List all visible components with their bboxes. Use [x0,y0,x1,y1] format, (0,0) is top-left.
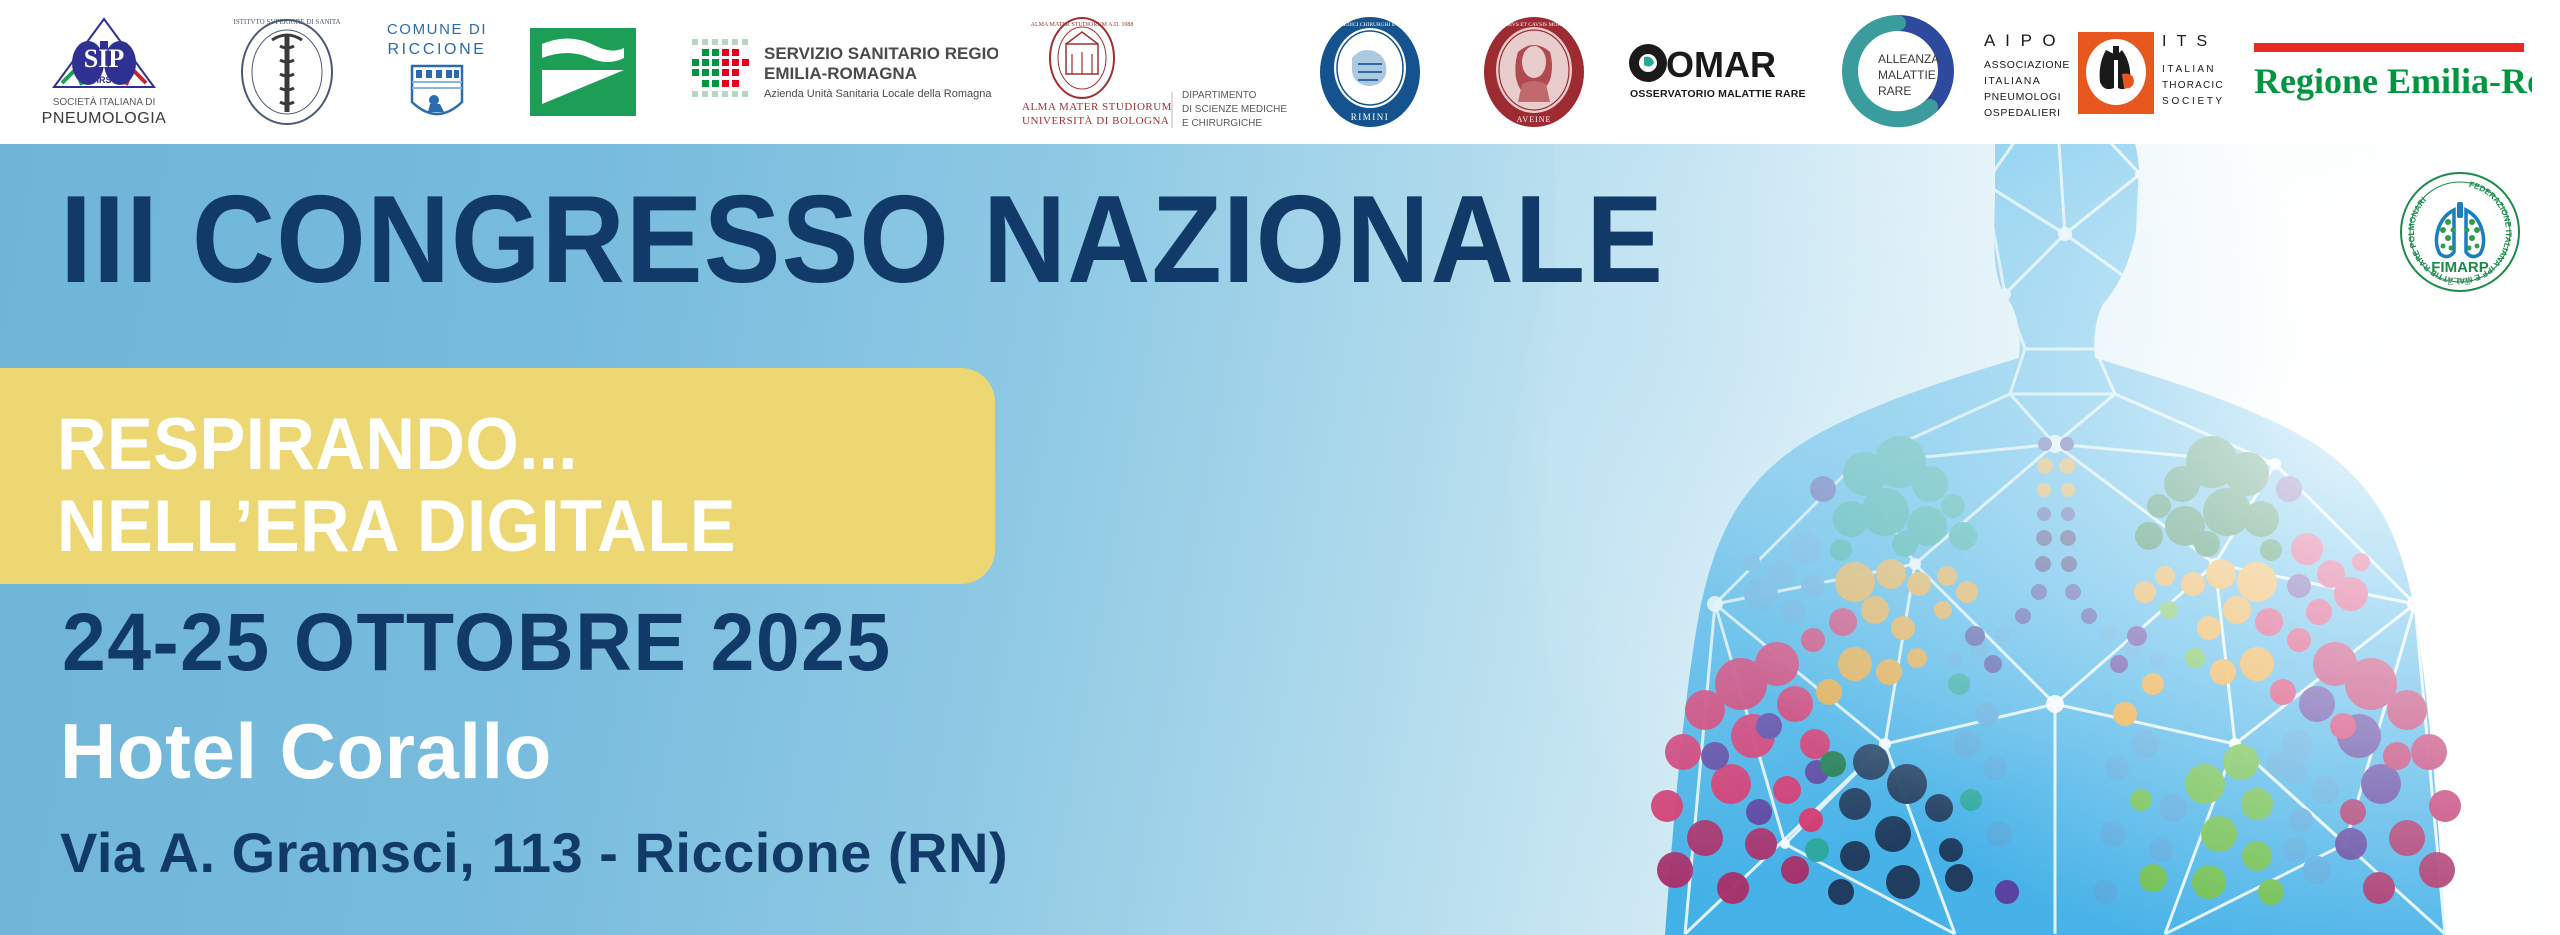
regione-emilia-romagna-icon: Regione Emilia-Romagna [2252,37,2532,107]
sponsor-logo-ssr-ausl-romagna[interactable]: SERVIZIO SANITARIO REGIONALE EMILIA-ROMA… [688,27,998,117]
sponsor-logo-sip-irs[interactable]: SIP IRS SOCIETÀ ITALIANA DI PNEUMOLOGIA [36,12,172,132]
theme-line-1: RESPIRANDO... [57,408,578,481]
unibo-line-2: UNIVERSITÀ DI BOLOGNA [1022,115,1169,127]
sip-tagline-2: PNEUMOLOGIA [42,110,167,127]
sponsor-logo-alleanza-malattie-rare[interactable]: ALLEANZA MALATTIE RARE [1838,15,1960,129]
iss-ring-text: ISTITVTO SVPERIORE DI SANITA [233,18,340,26]
sponsor-logo-iss[interactable]: ISTITVTO SVPERIORE DI SANITA [228,16,346,128]
aipo-acronym: A I P O [1984,31,2059,50]
ordine-medici-rimini-icon: ORDINE DEI MEDICI CHIRURGHI E ODONTOIATR… [1310,14,1430,130]
unibo-line-1: ALMA MATER STUDIORUM [1022,101,1172,113]
unibo-dept-2: DI SCIENZE MEDICHE [1182,104,1287,115]
comune-line-1: COMUNE DI [387,21,487,38]
aipo-its-icon: A I P O ASSOCIAZIONE ITALIANA PNEUMOLOGI… [1980,24,2230,120]
sponsor-logo-omceo-rimini[interactable]: ORDINE DEI MEDICI CHIRURGHI E ODONTOIATR… [1310,14,1430,130]
sponsor-logo-green-flag[interactable] [528,26,638,118]
ssr-line-3: Azienda Unità Sanitaria Locale della Rom… [764,88,992,100]
aipo-line-4: PNEUMOLOGI [1984,91,2061,103]
morgagni-ring-text: DE SEDIBVS ET CAVSIS MORBORVM [1487,22,1581,28]
sip-tagline-1: SOCIETÀ ITALIANA DI [53,95,156,108]
regione-wordmark: Regione Emilia-Romagna [2254,61,2532,101]
alleanza-line-2: MALATTIE [1878,68,1936,82]
event-dates: 24-25 OTTOBRE 2025 [62,602,892,684]
sip-logo-text: SIP [84,44,125,73]
servizio-sanitario-regionale-icon: SERVIZIO SANITARIO REGIONALE EMILIA-ROMA… [688,27,998,117]
sponsor-logo-aipo-its[interactable]: A I P O ASSOCIAZIONE ITALIANA PNEUMOLOGI… [1980,24,2230,120]
morgagni-seal-icon: DE SEDIBVS ET CAVSIS MORBORVM AVEINE [1476,14,1592,130]
sponsor-logo-omar[interactable]: OMAR OSSERVATORIO MALATTIE RARE [1626,37,1806,107]
page-title: III CONGRESSO NAZIONALE [60,178,1664,302]
unibo-dept-3: E CHIRURGICHE [1182,118,1262,129]
alleanza-malattie-rare-icon: ALLEANZA MALATTIE RARE [1838,15,1960,129]
omar-tagline: OSSERVATORIO MALATTIE RARE [1630,88,1806,100]
theme-banner: RESPIRANDO... NELL’ERA DIGITALE [0,368,995,584]
event-venue: Hotel Corallo [60,712,552,790]
comune-line-2: RICCIONE [387,41,486,58]
universita-di-bologna-icon: ALMA MATER STUDIORUM A.D. 1088 ALMA MATE… [1020,12,1310,132]
omar-wordmark: OMAR [1666,44,1776,85]
its-line-4: S O C I E T Y [2162,96,2222,107]
sponsor-logo-comune-riccione[interactable]: COMUNE DI RICCIONE [374,14,500,130]
omceo-ring-text: ORDINE DEI MEDICI CHIRURGHI E ODONTOIATR… [1310,22,1430,28]
aipo-line-5: OSPEDALIERI [1984,107,2061,119]
congress-poster: III CONGRESSO NAZIONALE RESPIRANDO... NE… [0,0,2560,935]
sponsor-logo-morgagni-seal[interactable]: DE SEDIBVS ET CAVSIS MORBORVM AVEINE [1476,14,1592,130]
fimarp-ets: ETS [2447,277,2472,288]
alleanza-line-3: RARE [1878,84,1911,98]
theme-line-2: NELL’ERA DIGITALE [57,490,736,563]
ssr-line-1: SERVIZIO SANITARIO REGIONALE [764,44,998,63]
ssr-line-2: EMILIA-ROMAGNA [764,64,917,83]
fimarp-ets-icon: FEDERAZIONE ITALIANA IPF E MALATTIE RARE… [2396,168,2524,296]
sponsor-logo-unibo[interactable]: ALMA MATER STUDIORUM A.D. 1088 ALMA MATE… [1020,12,1310,132]
its-line-3: THORACIC [2162,80,2224,91]
alleanza-line-1: ALLEANZA [1878,52,1939,66]
its-acronym: I T S [2162,33,2210,50]
its-line-2: I T A L I A N [2162,64,2214,75]
morgagni-bottom-text: AVEINE [1517,115,1552,124]
osservatorio-malattie-rare-icon: OMAR OSSERVATORIO MALATTIE RARE [1626,37,1806,107]
fimarp-logo[interactable]: FEDERAZIONE ITALIANA IPF E MALATTIE RARE… [2396,168,2524,296]
comune-di-riccione-icon: COMUNE DI RICCIONE [374,14,500,130]
aipo-line-3: ITALIANA [1984,75,2041,87]
green-flag-icon [528,26,638,118]
societa-italiana-di-pneumologia-icon: SIP IRS SOCIETÀ ITALIANA DI PNEUMOLOGIA [36,13,172,131]
fimarp-name: FIMARP [2431,259,2489,276]
sponsor-logo-regione-emilia-romagna[interactable]: Regione Emilia-Romagna [2252,37,2532,107]
event-address: Via A. Gramsci, 113 - Riccione (RN) [60,825,1008,881]
aipo-line-2: ASSOCIAZIONE [1984,59,2070,71]
irs-logo-text: IRS [96,75,111,85]
istituto-superiore-di-sanita-icon: ISTITVTO SVPERIORE DI SANITA [228,16,346,128]
unibo-dept-1: DIPARTIMENTO [1182,90,1257,101]
unibo-seal-text: ALMA MATER STUDIORUM A.D. 1088 [1031,22,1134,28]
omceo-bottom-text: RIMINI [1351,112,1390,122]
sponsor-logo-bar: SIP IRS SOCIETÀ ITALIANA DI PNEUMOLOGIA … [0,0,2560,144]
